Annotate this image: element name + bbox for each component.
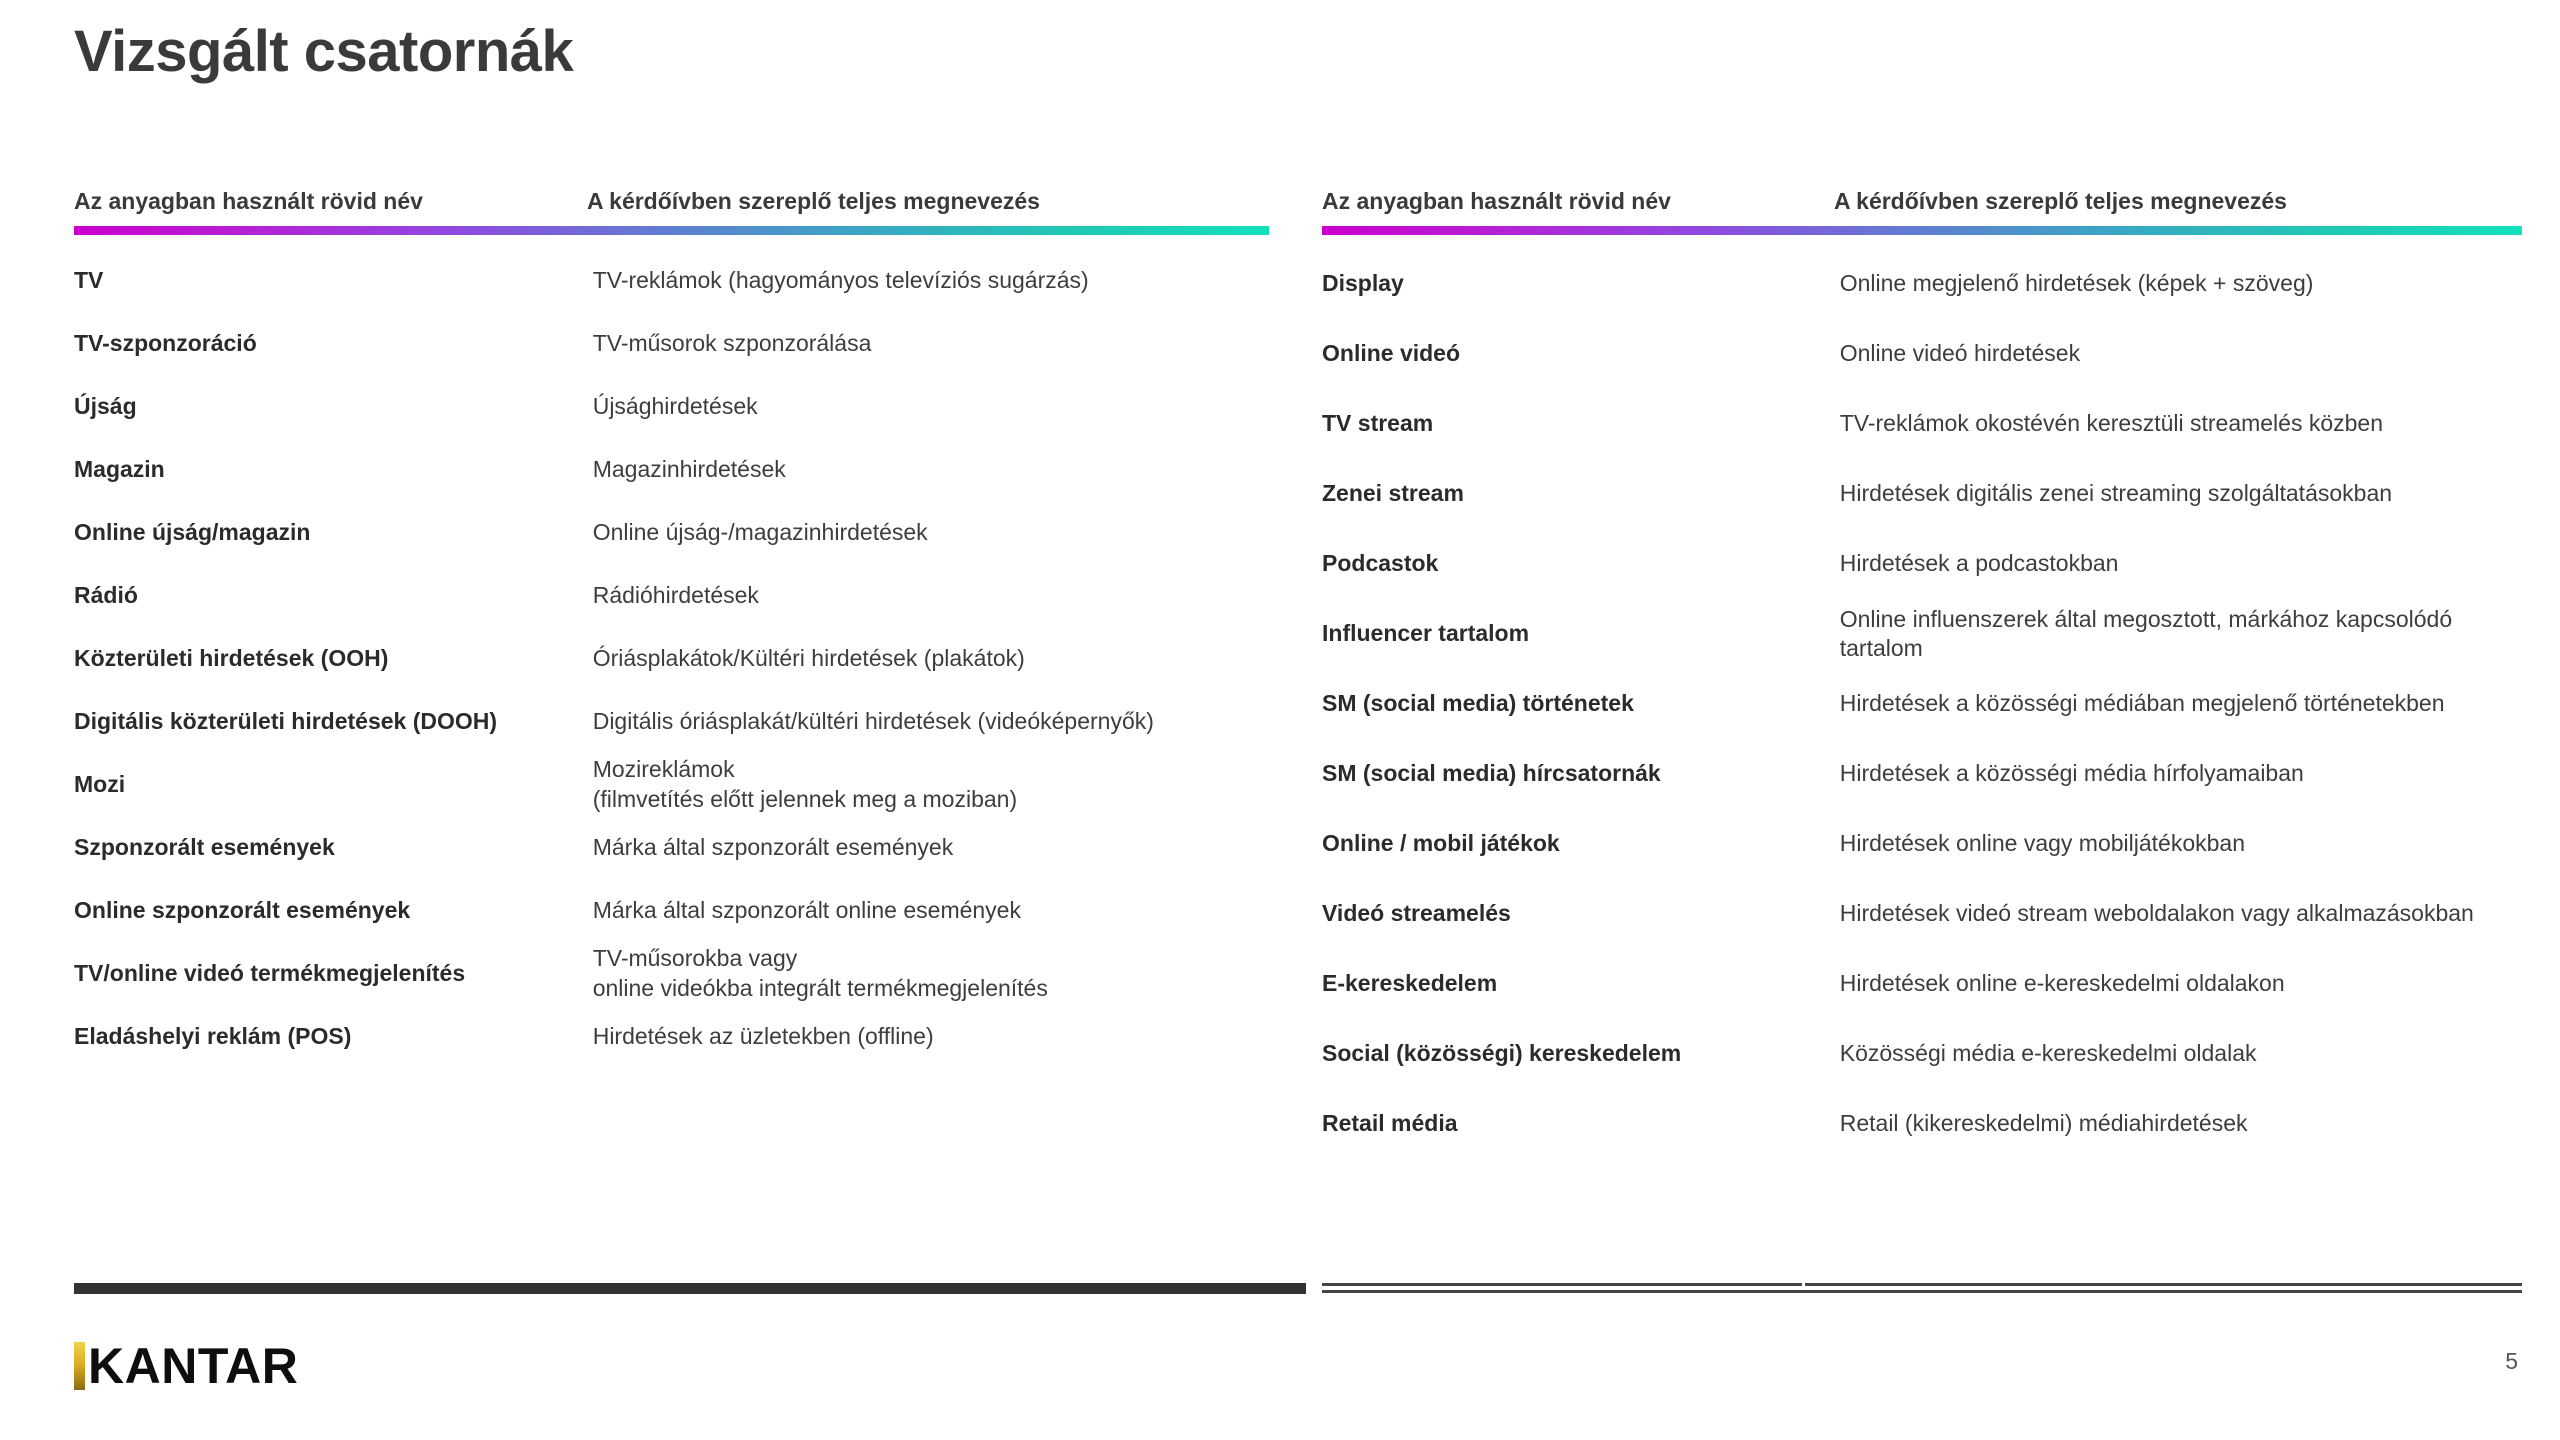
table-row: PodcastokHirdetések a podcastokban bbox=[1322, 529, 2522, 599]
table-row: Közterületi hirdetések (OOH)Óriásplakáto… bbox=[74, 627, 1269, 690]
table-row: Zenei streamHirdetések digitális zenei s… bbox=[1322, 459, 2522, 529]
table-row: Online / mobil játékokHirdetések online … bbox=[1322, 809, 2522, 879]
table-row: SM (social media) hírcsatornákHirdetések… bbox=[1322, 739, 2522, 809]
channel-short-name: TV stream bbox=[1322, 409, 1840, 438]
channel-full-name: Hirdetések a közösségi médiában megjelen… bbox=[1840, 689, 2522, 718]
footer-rule-right-segment-b bbox=[1322, 1290, 2522, 1293]
channel-short-name: Influencer tartalom bbox=[1322, 619, 1840, 648]
channel-full-name: TV-műsorokba vagyonline videókba integrá… bbox=[593, 944, 1269, 1003]
channel-full-name: Óriásplakátok/Kültéri hirdetések (plakát… bbox=[593, 644, 1269, 673]
table-row: ÚjságÚjsághirdetések bbox=[74, 375, 1269, 438]
channel-short-name: Közterületi hirdetések (OOH) bbox=[74, 644, 593, 673]
table-row: TV streamTV-reklámok okostévén keresztül… bbox=[1322, 389, 2522, 459]
table-row: RádióRádióhirdetések bbox=[74, 564, 1269, 627]
table-row: TVTV-reklámok (hagyományos televíziós su… bbox=[74, 249, 1269, 312]
channel-short-name: Újság bbox=[74, 392, 593, 421]
channel-full-name: Márka által szponzorált események bbox=[593, 833, 1269, 862]
footer-rule-right-segment-a bbox=[1322, 1283, 1802, 1286]
channel-short-name: Online újság/magazin bbox=[74, 518, 593, 547]
channel-full-name: Hirdetések a közösségi média hírfolyamai… bbox=[1840, 759, 2522, 788]
kantar-logo: KANTAR bbox=[74, 1338, 298, 1394]
channel-full-name: Digitális óriásplakát/kültéri hirdetések… bbox=[593, 707, 1269, 736]
channel-full-name: Közösségi média e-kereskedelmi oldalak bbox=[1840, 1039, 2522, 1068]
channel-full-name: Online influenszerek által megosztott, m… bbox=[1840, 605, 2522, 664]
column-header-short-name-right: Az anyagban használt rövid név bbox=[1322, 187, 1834, 218]
channel-full-name: TV-reklámok (hagyományos televíziós sugá… bbox=[593, 266, 1269, 295]
channel-short-name: Online videó bbox=[1322, 339, 1840, 368]
channel-full-name: Hirdetések digitális zenei streaming szo… bbox=[1840, 479, 2522, 508]
table-row: DisplayOnline megjelenő hirdetések (képe… bbox=[1322, 249, 2522, 319]
channel-short-name: Mozi bbox=[74, 770, 593, 799]
channel-full-name: Mozireklámok(filmvetítés előtt jelennek … bbox=[593, 755, 1269, 814]
channel-short-name: SM (social media) történetek bbox=[1322, 689, 1840, 718]
footer-rule-right-segment-c bbox=[1805, 1283, 2522, 1286]
channel-short-name: Videó streamelés bbox=[1322, 899, 1840, 928]
channel-full-name: Rádióhirdetések bbox=[593, 581, 1269, 610]
gradient-divider-right bbox=[1322, 226, 2522, 235]
footer-rule-left bbox=[74, 1283, 1306, 1294]
channel-full-name: Újsághirdetések bbox=[593, 392, 1269, 421]
channel-short-name: TV/online videó termékmegjelenítés bbox=[74, 959, 593, 988]
channel-short-name: Zenei stream bbox=[1322, 479, 1840, 508]
channel-full-name: Hirdetések a podcastokban bbox=[1840, 549, 2522, 578]
channel-short-name: Social (közösségi) kereskedelem bbox=[1322, 1039, 1840, 1068]
channel-full-name: Hirdetések online e-kereskedelmi oldalak… bbox=[1840, 969, 2522, 998]
channel-short-name: SM (social media) hírcsatornák bbox=[1322, 759, 1840, 788]
table-header-row-right: Az anyagban használt rövid név A kérdőív… bbox=[1322, 140, 2522, 218]
channel-short-name: Online szponzorált események bbox=[74, 896, 593, 925]
channel-full-name: TV-reklámok okostévén keresztüli streame… bbox=[1840, 409, 2522, 438]
table-row: Videó streamelésHirdetések videó stream … bbox=[1322, 879, 2522, 949]
table-row: Online videóOnline videó hirdetések bbox=[1322, 319, 2522, 389]
channel-table-left: Az anyagban használt rövid név A kérdőív… bbox=[74, 140, 1269, 1068]
gradient-divider-left bbox=[74, 226, 1269, 235]
table-header-row-left: Az anyagban használt rövid név A kérdőív… bbox=[74, 140, 1269, 218]
channel-short-name: Podcastok bbox=[1322, 549, 1840, 578]
table-row: TV/online videó termékmegjelenítésTV-műs… bbox=[74, 942, 1269, 1005]
channel-short-name: E-kereskedelem bbox=[1322, 969, 1840, 998]
channel-full-name: Magazinhirdetések bbox=[593, 455, 1269, 484]
table-row: E-kereskedelemHirdetések online e-keresk… bbox=[1322, 949, 2522, 1019]
table-row: TV-szponzorációTV-műsorok szponzorálása bbox=[74, 312, 1269, 375]
table-row: Digitális közterületi hirdetések (DOOH)D… bbox=[74, 690, 1269, 753]
table-row: Online újság/magazinOnline újság-/magazi… bbox=[74, 501, 1269, 564]
table-row: Eladáshelyi reklám (POS)Hirdetések az üz… bbox=[74, 1005, 1269, 1068]
table-body-left: TVTV-reklámok (hagyományos televíziós su… bbox=[74, 249, 1269, 1068]
page-title: Vizsgált csatornák bbox=[74, 18, 573, 85]
channel-full-name: Hirdetések online vagy mobiljátékokban bbox=[1840, 829, 2522, 858]
page-number: 5 bbox=[2505, 1348, 2518, 1375]
column-header-full-name-left: A kérdőívben szereplő teljes megnevezés bbox=[587, 187, 1269, 218]
channel-full-name: Online videó hirdetések bbox=[1840, 339, 2522, 368]
channel-short-name: Online / mobil játékok bbox=[1322, 829, 1840, 858]
table-row: Online szponzorált eseményekMárka által … bbox=[74, 879, 1269, 942]
table-row: MagazinMagazinhirdetések bbox=[74, 438, 1269, 501]
channel-full-name: TV-műsorok szponzorálása bbox=[593, 329, 1269, 358]
table-body-right: DisplayOnline megjelenő hirdetések (képe… bbox=[1322, 249, 2522, 1159]
table-row: Retail médiaRetail (kikereskedelmi) médi… bbox=[1322, 1089, 2522, 1159]
channel-short-name: Eladáshelyi reklám (POS) bbox=[74, 1022, 593, 1051]
column-header-short-name-left: Az anyagban használt rövid név bbox=[74, 187, 587, 218]
channel-full-name: Online újság-/magazinhirdetések bbox=[593, 518, 1269, 547]
kantar-logo-bar-icon bbox=[74, 1342, 85, 1390]
table-row: SM (social media) történetekHirdetések a… bbox=[1322, 669, 2522, 739]
table-row: Szponzorált eseményekMárka által szponzo… bbox=[74, 816, 1269, 879]
channel-short-name: Magazin bbox=[74, 455, 593, 484]
channel-short-name: Retail média bbox=[1322, 1109, 1840, 1138]
channel-full-name: Márka által szponzorált online események bbox=[593, 896, 1269, 925]
column-header-full-name-right: A kérdőívben szereplő teljes megnevezés bbox=[1834, 187, 2522, 218]
kantar-logo-text: KANTAR bbox=[88, 1341, 298, 1391]
channel-full-name: Online megjelenő hirdetések (képek + szö… bbox=[1840, 269, 2522, 298]
channel-short-name: Szponzorált események bbox=[74, 833, 593, 862]
table-row: Influencer tartalomOnline influenszerek … bbox=[1322, 599, 2522, 669]
table-row: Social (közösségi) kereskedelemKözösségi… bbox=[1322, 1019, 2522, 1089]
channel-full-name: Retail (kikereskedelmi) médiahirdetések bbox=[1840, 1109, 2522, 1138]
channel-short-name: Rádió bbox=[74, 581, 593, 610]
channel-full-name: Hirdetések videó stream weboldalakon vag… bbox=[1840, 899, 2522, 928]
channel-full-name: Hirdetések az üzletekben (offline) bbox=[593, 1022, 1269, 1051]
channel-short-name: TV bbox=[74, 266, 593, 295]
channel-short-name: Display bbox=[1322, 269, 1840, 298]
channel-short-name: TV-szponzoráció bbox=[74, 329, 593, 358]
channel-table-right: Az anyagban használt rövid név A kérdőív… bbox=[1322, 140, 2522, 1159]
channel-short-name: Digitális közterületi hirdetések (DOOH) bbox=[74, 707, 593, 736]
table-row: MoziMozireklámok(filmvetítés előtt jelen… bbox=[74, 753, 1269, 816]
